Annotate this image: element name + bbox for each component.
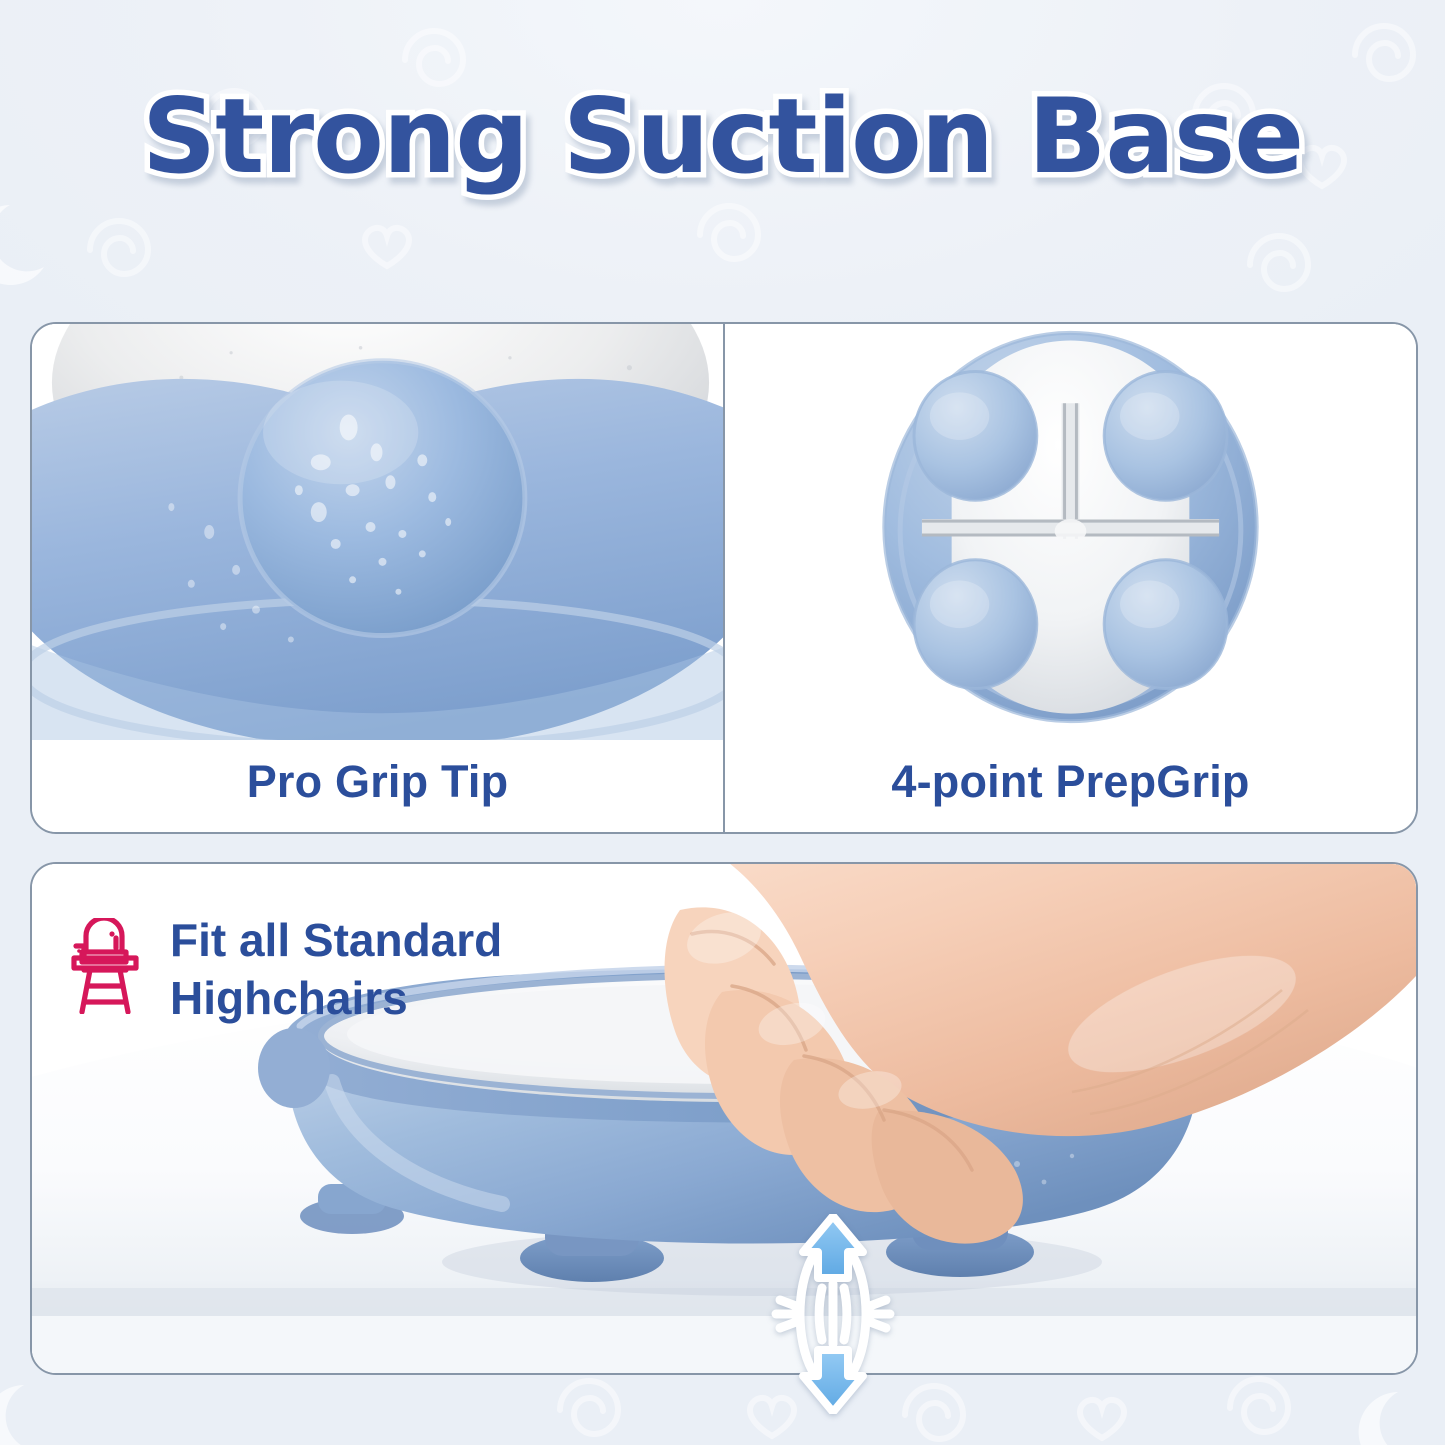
bottom-panel: Fit all Standard Highchairs <box>30 862 1418 1375</box>
panel-pro-grip-tip: Pro Grip Tip <box>32 324 723 832</box>
pro-grip-tip-illustration <box>32 324 723 740</box>
page-title-wrap: Strong Suction Base <box>0 62 1445 212</box>
highchair-feature-line2: Highchairs <box>170 970 502 1028</box>
prepgrip-illustration <box>725 324 1416 740</box>
highchair-feature-text: Fit all Standard Highchairs <box>170 912 502 1027</box>
highchair-feature: Fit all Standard Highchairs <box>70 912 502 1027</box>
panel-prepgrip: 4-point PrepGrip <box>723 324 1416 832</box>
page-title: Strong Suction Base <box>142 77 1303 197</box>
highchair-feature-line1: Fit all Standard <box>170 912 502 970</box>
caption-prepgrip: 4-point PrepGrip <box>725 740 1416 832</box>
pro-grip-tip-photo <box>32 324 723 740</box>
top-panel: Pro Grip Tip <box>30 322 1418 834</box>
prepgrip-photo <box>725 324 1416 740</box>
highchair-icon <box>70 918 144 1019</box>
caption-pro-grip-tip: Pro Grip Tip <box>32 740 723 832</box>
suction-pull-arrows-icon <box>762 1214 904 1419</box>
infographic-page: Strong Suction Base <box>0 0 1445 1445</box>
